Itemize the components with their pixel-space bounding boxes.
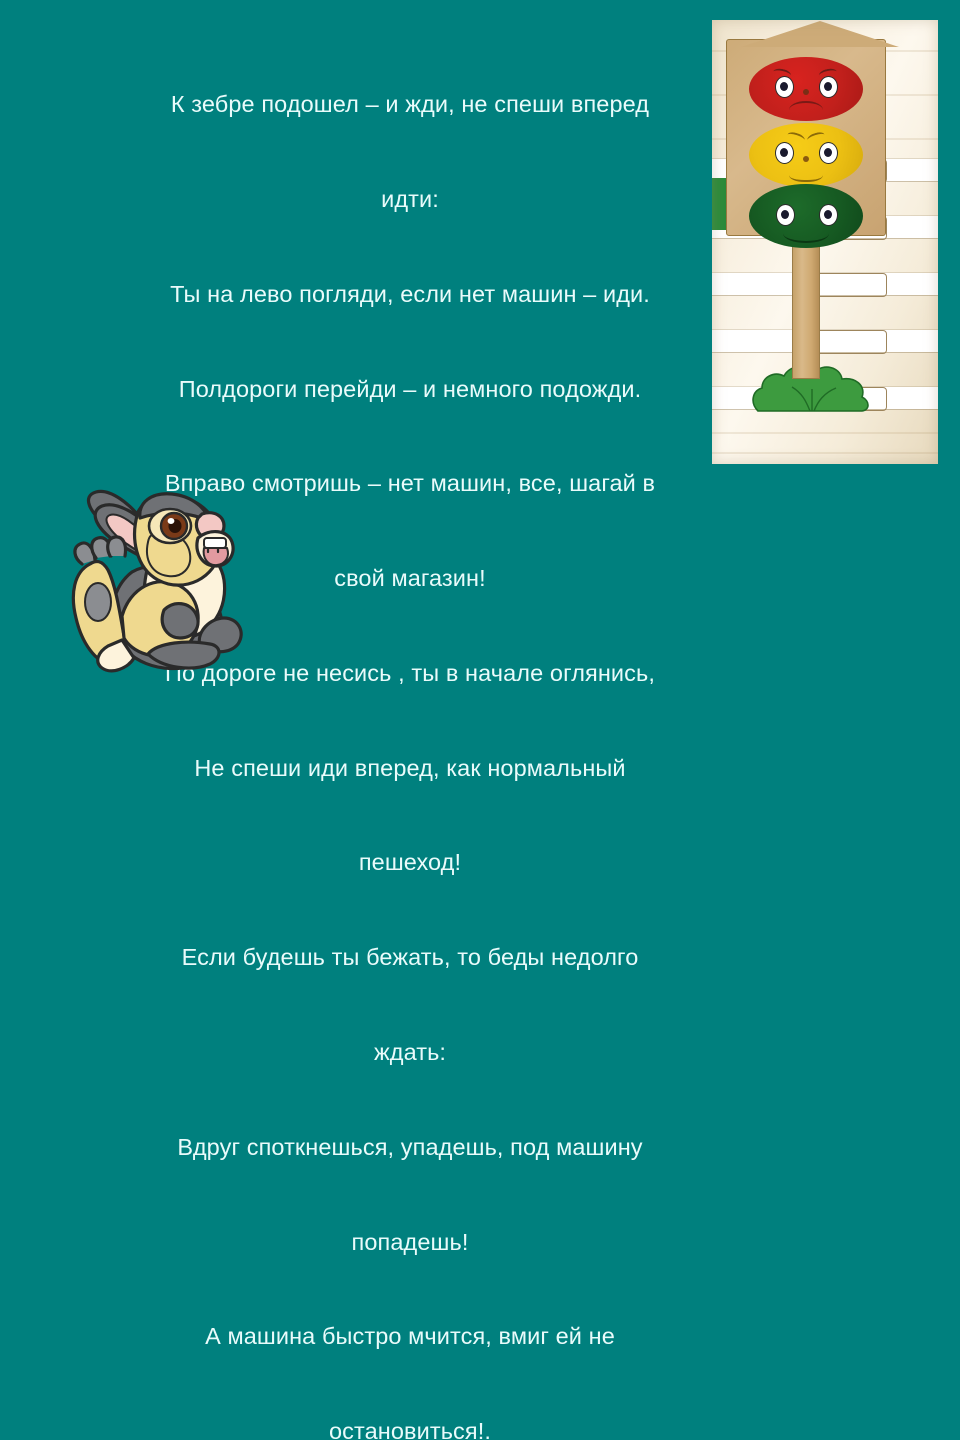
poem-line: Если будешь ты бежать, то беды недолго [118,942,702,974]
poem-line: А машина быстро мчится, вмиг ей не [118,1321,702,1353]
poem-line: пешеход! [118,847,702,879]
poem-line: Ты на лево погляди, если нет машин – иди… [118,279,702,311]
poem-line: остановиться!. [118,1416,702,1440]
green-lamp [749,184,863,248]
poem-line: ждать: [118,1037,702,1069]
poem-line: Не спеши иди вперед, как нормальный [118,753,702,785]
traffic-light-pole [792,230,820,379]
poem-line: Полдороги перейди – и немного подожди. [118,374,702,406]
poem-line: Вдруг споткнешься, упадешь, под машину [118,1132,702,1164]
poem-line: попадешь! [118,1227,702,1259]
yellow-lamp [749,123,863,187]
poem-line: идти: [118,184,702,216]
traffic-light-photo [712,20,938,464]
traffic-light-housing [726,39,886,236]
traffic-light-roof [741,21,899,47]
red-lamp [749,57,863,121]
poem-line: К зебре подошел – и жди, не спеши вперед [118,89,702,121]
poem-text-block: К зебре подошел – и жди, не спеши вперед… [118,26,702,1440]
rabbit-illustration [52,468,257,680]
